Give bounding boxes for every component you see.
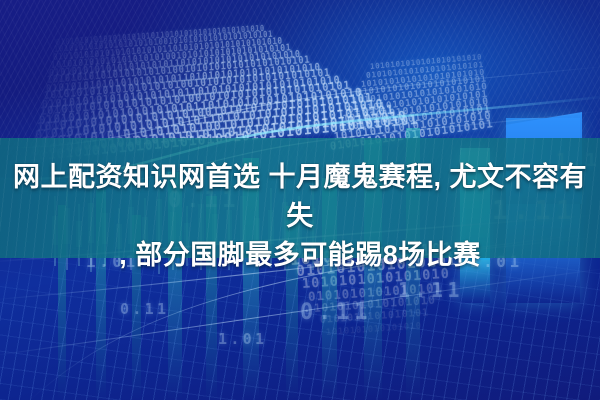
- overlay-number: 1.01: [218, 330, 267, 348]
- overlay-number: 0.11: [300, 300, 372, 325]
- banner-image: 1010101010101010101010010101010101010101…: [0, 0, 600, 400]
- headline-line-2: , 部分国脚最多可能踢8场比赛: [6, 236, 594, 275]
- page-title: 网上配资知识网首选 十月魔鬼赛程, 尤文不容有失 , 部分国脚最多可能踢8场比赛: [0, 158, 600, 275]
- overlay-number: 1.11: [398, 278, 464, 302]
- overlay-number: 0.11: [120, 300, 169, 318]
- headline-line-1: 网上配资知识网首选 十月魔鬼赛程, 尤文不容有失: [13, 162, 587, 231]
